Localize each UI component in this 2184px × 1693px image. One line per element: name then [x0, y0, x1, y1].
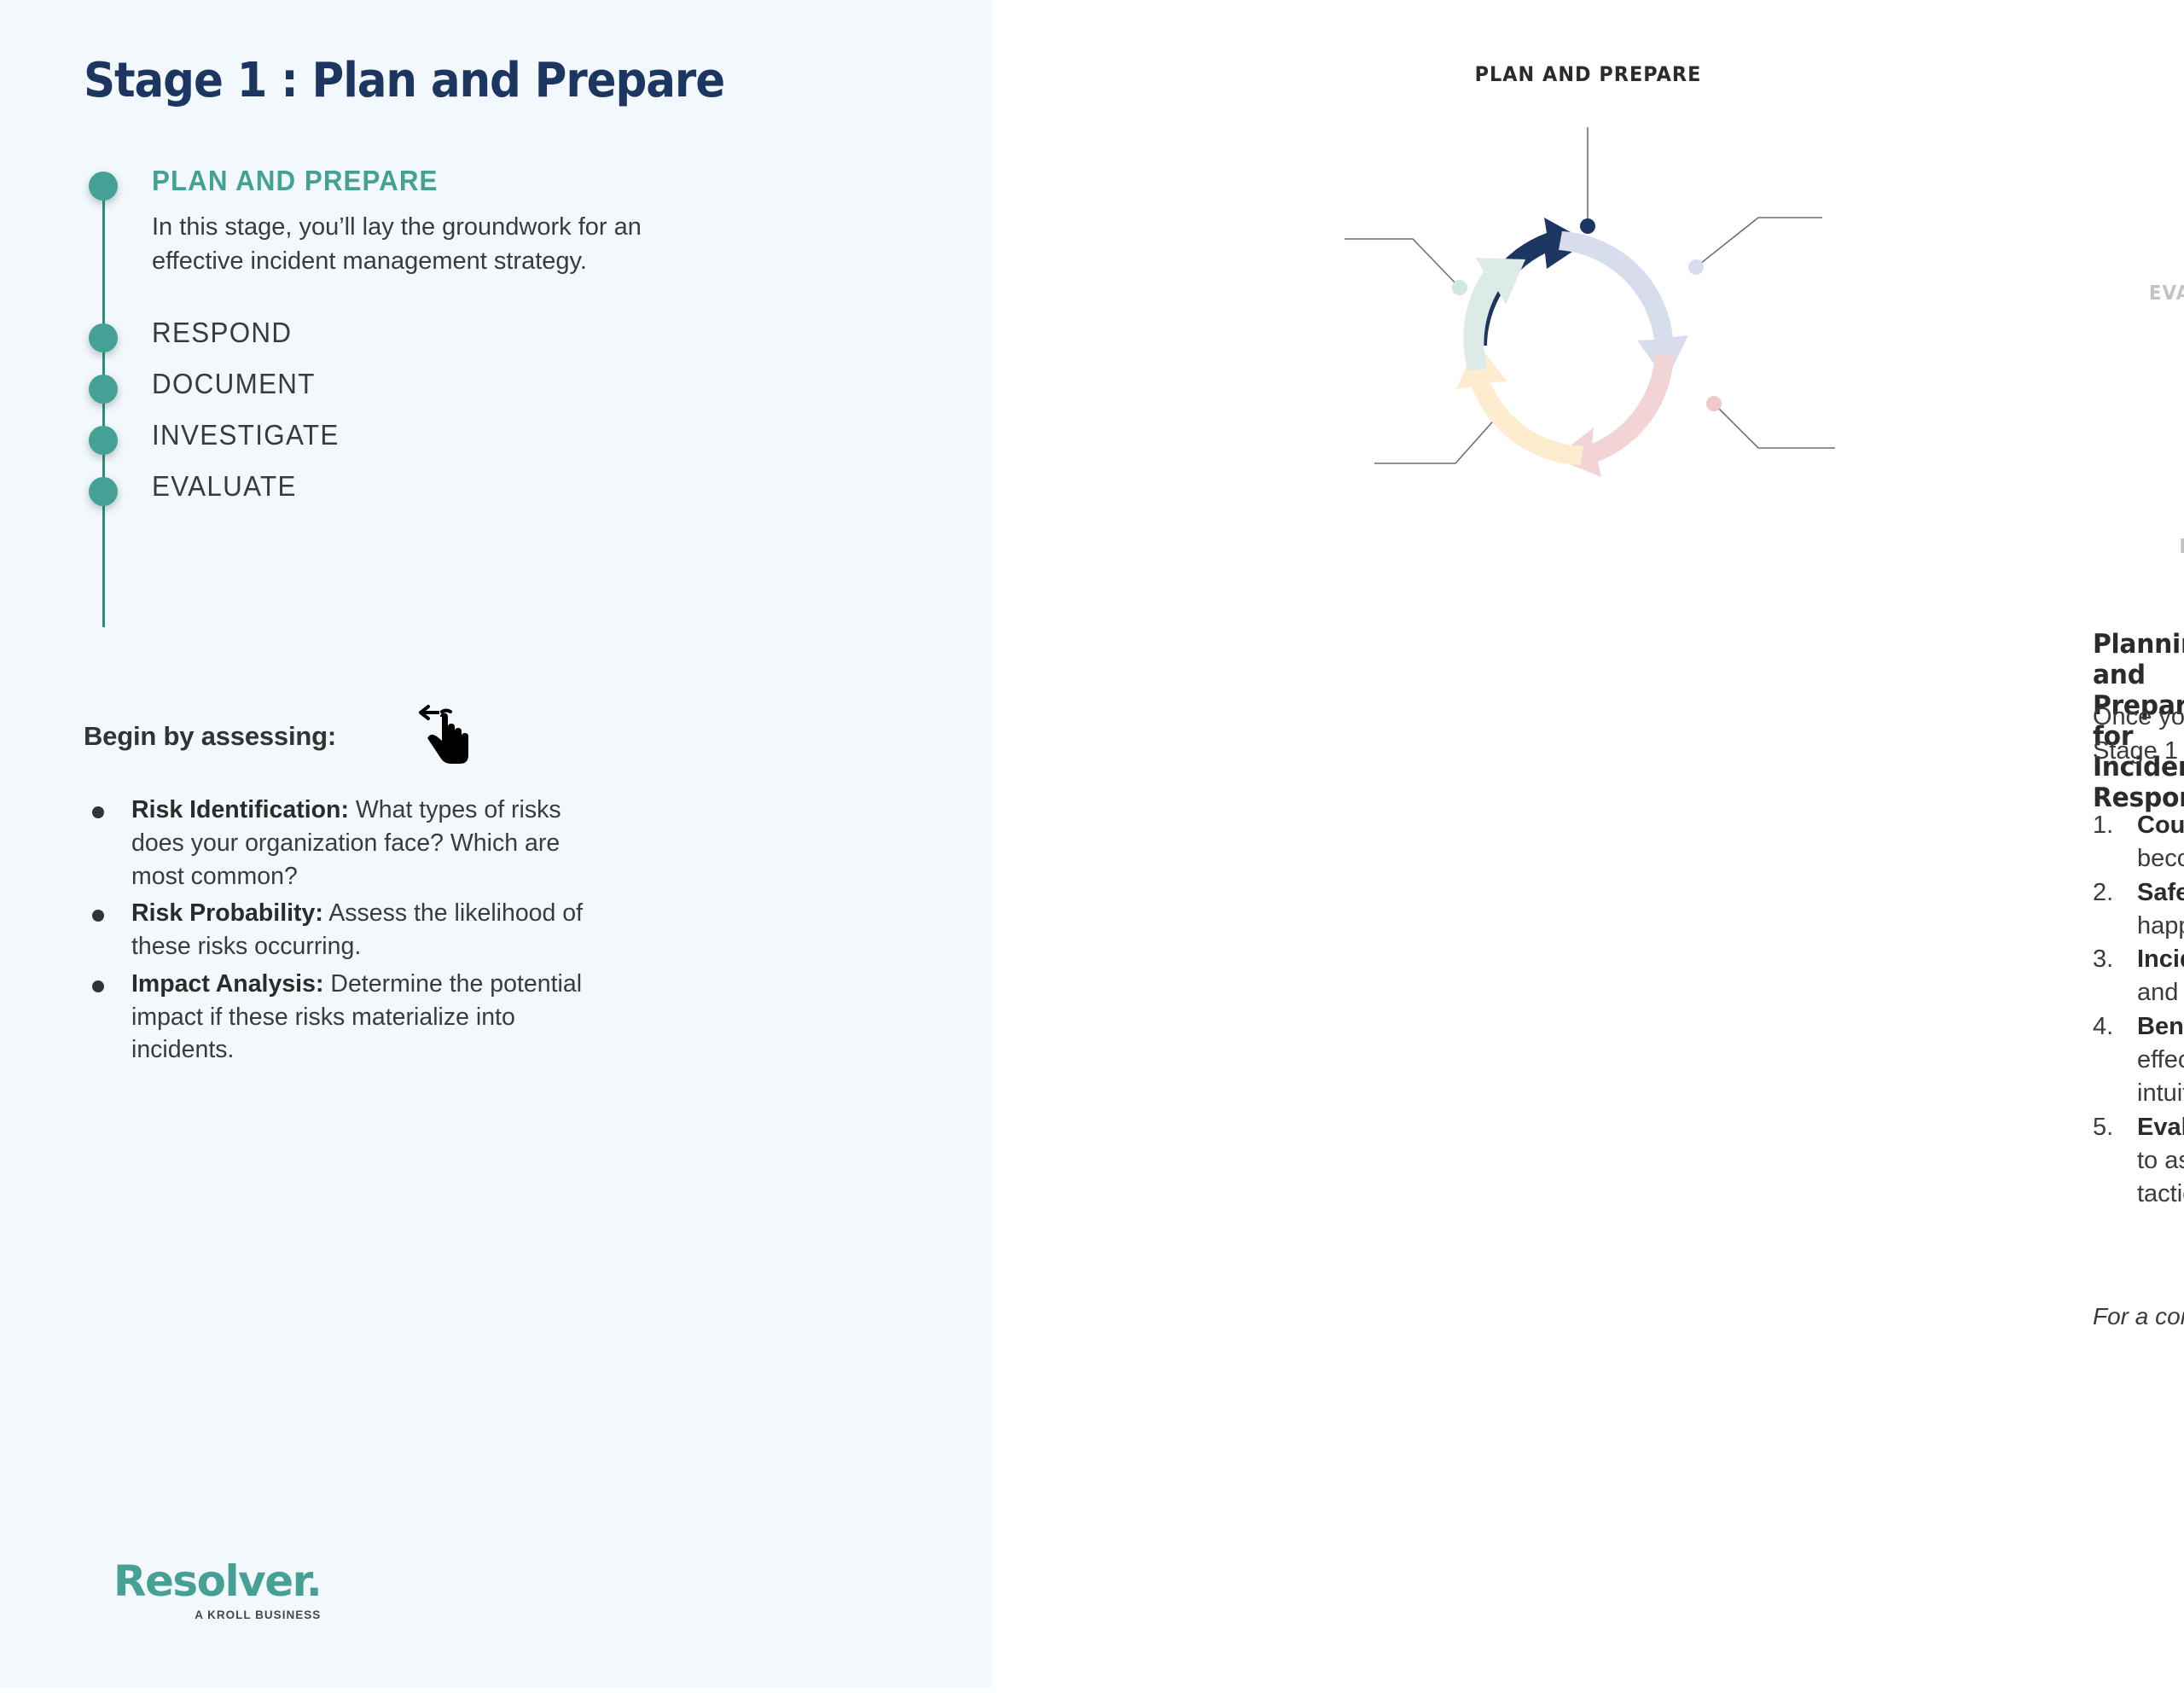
- list-item: 3. Incident Reporting: Is your organizat…: [2093, 943, 2184, 1010]
- wheel-segments: [1456, 218, 1688, 477]
- wheel-label-evaluate: EVALUATE: [2149, 282, 2184, 305]
- timeline-dot-icon: [89, 426, 118, 455]
- timeline-dot-icon: [89, 172, 118, 201]
- timeline-dot-icon: [89, 477, 118, 506]
- stage-timeline: PLAN AND PREPARE In this stage, you’ll l…: [84, 166, 937, 506]
- numbered-list: 1. Countermeasures: What strategies and …: [2093, 809, 2184, 1211]
- list-item-number: 4.: [2093, 1010, 2137, 1111]
- timeline-label: DOCUMENT: [152, 369, 897, 399]
- wheel-label-investigate: INVESTIGATE: [2179, 536, 2184, 558]
- list-item: Risk Probability: Assess the likelihood …: [84, 897, 613, 963]
- benchmarking-note: For a comprehensive Benchmarking Guide, …: [2093, 1303, 2184, 1330]
- timeline-description: In this stage, you’ll lay the groundwork…: [152, 210, 681, 278]
- list-item-term: Benchmarks:: [2137, 1013, 2184, 1040]
- anchor-dot: [1706, 396, 1722, 411]
- right-column: PLAN AND PREPARE: [992, 0, 2184, 1688]
- list-item-number: 3.: [2093, 943, 2137, 1010]
- bullet-icon: [92, 980, 104, 992]
- list-item-term: Safeguards:: [2137, 879, 2184, 906]
- wheel-segment-evaluate: [1463, 258, 1525, 371]
- timeline-item-respond[interactable]: RESPOND: [84, 318, 937, 369]
- list-item: 4. Benchmarks: Establish data-informed b…: [2093, 1010, 2184, 1111]
- timeline-item-plan-and-prepare[interactable]: PLAN AND PREPARE In this stage, you’ll l…: [84, 166, 937, 318]
- timeline-dot-icon: [89, 323, 118, 352]
- timeline-label: INVESTIGATE: [152, 421, 897, 451]
- list-item: Impact Analysis: Determine the potential…: [84, 968, 613, 1067]
- assess-bullet-list: Risk Identification: What types of risks…: [84, 794, 613, 1071]
- logo-subtitle: A KROLL BUSINESS: [113, 1609, 321, 1621]
- list-item-term: Evaluation and Feedback:: [2137, 1114, 2184, 1141]
- list-item-term: Impact Analysis:: [131, 970, 323, 998]
- timeline-item-document[interactable]: DOCUMENT: [84, 369, 937, 421]
- list-item-term: Risk Probability:: [131, 899, 323, 927]
- timeline-item-investigate[interactable]: INVESTIGATE: [84, 421, 937, 472]
- page-title: Stage 1 : Plan and Prepare: [84, 53, 724, 108]
- list-item: 2. Safeguards: What measures can be put …: [2093, 876, 2184, 944]
- anchor-dot: [1452, 280, 1467, 295]
- list-item: 5. Evaluation and Feedback: At what freq…: [2093, 1111, 2184, 1212]
- incident-lifecycle-wheel-diagram: [1161, 90, 2014, 567]
- timeline-label: EVALUATE: [152, 472, 897, 502]
- list-item-number: 1.: [2093, 809, 2137, 876]
- timeline-label: PLAN AND PREPARE: [152, 166, 897, 196]
- list-item-number: 2.: [2093, 876, 2137, 944]
- list-item: Risk Identification: What types of risks…: [84, 794, 613, 893]
- list-item-term: Countermeasures:: [2137, 812, 2184, 839]
- bullet-icon: [92, 806, 104, 818]
- logo-wordmark: Resolver.: [113, 1560, 321, 1603]
- timeline-item-evaluate[interactable]: EVALUATE: [84, 472, 937, 506]
- list-item-term: Incident Reporting:: [2137, 945, 2184, 973]
- left-panel: Stage 1 : Plan and Prepare PLAN AND PREP…: [0, 0, 992, 1688]
- assess-heading: Begin by assessing:: [84, 721, 336, 752]
- bullet-icon: [92, 910, 104, 922]
- diagram-title: PLAN AND PREPARE: [1034, 62, 2142, 86]
- list-item-term: Risk Identification:: [131, 796, 349, 823]
- timeline-label: RESPOND: [152, 318, 897, 348]
- swipe-left-hand-cursor-icon: [414, 698, 473, 766]
- timeline-dot-icon: [89, 375, 118, 404]
- anchor-dot: [1688, 259, 1704, 275]
- anchor-dot: [1580, 218, 1595, 234]
- list-item-number: 5.: [2093, 1111, 2137, 1212]
- resolver-logo: Resolver. A KROLL BUSINESS: [113, 1560, 321, 1621]
- section-intro-paragraph: Once you’ve identified the risks and ran…: [2093, 700, 2184, 768]
- list-item: 1. Countermeasures: What strategies and …: [2093, 809, 2184, 876]
